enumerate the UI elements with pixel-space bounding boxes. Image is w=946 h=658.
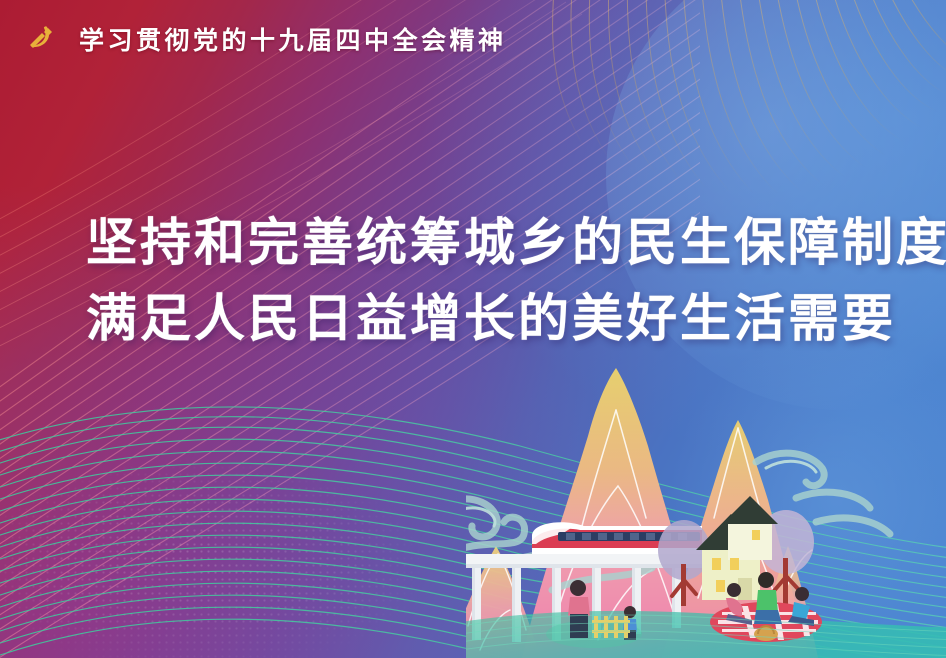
blue-glow-circle-mid: [666, 330, 946, 658]
headline-line-2: 满足人民日益增长的美好生活需要: [86, 282, 946, 358]
header-bar: 学习贯彻党的十九届四中全会精神: [0, 0, 946, 78]
halftone-dots-decoration: [0, 415, 580, 658]
party-emblem-hammer-sickle-icon: [25, 23, 57, 55]
headline-block: 坚持和完善统筹城乡的民生保障制度 满足人民日益增长的美好生活需要: [86, 206, 946, 358]
rural-urban-landscape-illustration: [466, 358, 946, 658]
headline-line-1: 坚持和完善统筹城乡的民生保障制度: [86, 206, 946, 282]
header-title: 学习贯彻党的十九届四中全会精神: [79, 21, 507, 57]
poster-canvas: 学习贯彻党的十九届四中全会精神 坚持和完善统筹城乡的民生保障制度 满足人民日益增…: [0, 0, 946, 658]
